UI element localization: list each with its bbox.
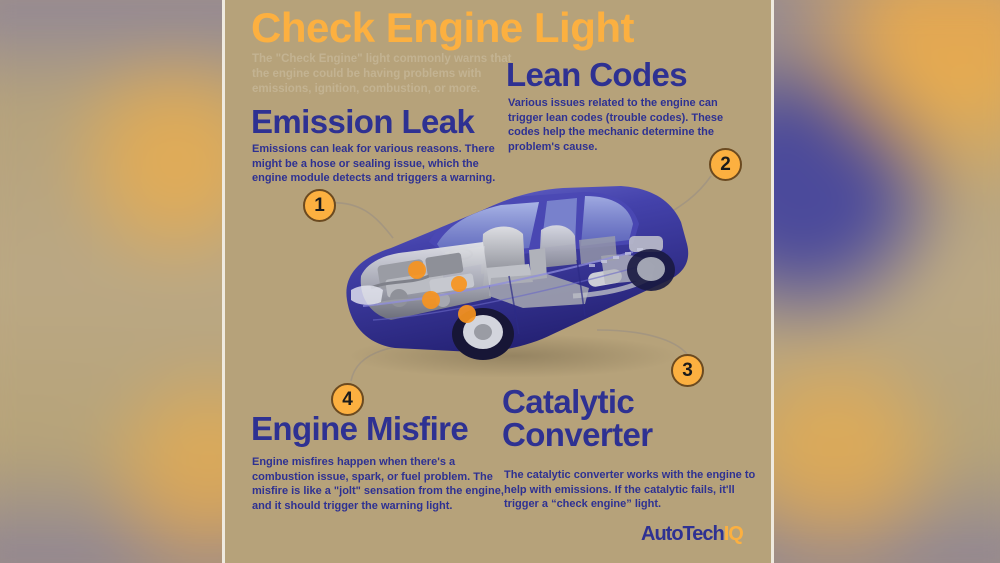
step-badge-3[interactable]: 3 bbox=[671, 354, 704, 387]
page-subtitle: The "Check Engine" light commonly warns … bbox=[252, 52, 522, 98]
step-badge-4[interactable]: 4 bbox=[331, 383, 364, 416]
section-body-lean-codes: Various issues related to the engine can… bbox=[508, 96, 753, 155]
step-badge-2[interactable]: 2 bbox=[709, 148, 742, 181]
step-badge-1[interactable]: 1 bbox=[303, 189, 336, 222]
screenshot-stage: Check Engine Light The "Check Engine" li… bbox=[0, 0, 1000, 563]
section-heading-engine-misfire: Engine Misfire bbox=[251, 412, 468, 445]
section-body-catalytic-converter: The catalytic converter works with the e… bbox=[504, 468, 759, 512]
brand-logo-primary: AutoTech bbox=[641, 523, 724, 545]
section-body-engine-misfire: Engine misfires happen when there's a co… bbox=[252, 455, 517, 514]
section-heading-catalytic-converter: Catalytic Converter bbox=[502, 385, 742, 451]
brand-logo[interactable]: AutoTechIQ bbox=[641, 523, 743, 546]
section-body-emission-leak: Emissions can leak for various reasons. … bbox=[252, 142, 517, 186]
page-title: Check Engine Light bbox=[251, 6, 634, 50]
section-heading-emission-leak: Emission Leak bbox=[251, 105, 474, 138]
section-heading-lean-codes: Lean Codes bbox=[506, 58, 687, 91]
brand-logo-accent: IQ bbox=[724, 523, 743, 545]
infographic-card: Check Engine Light The "Check Engine" li… bbox=[222, 0, 774, 563]
